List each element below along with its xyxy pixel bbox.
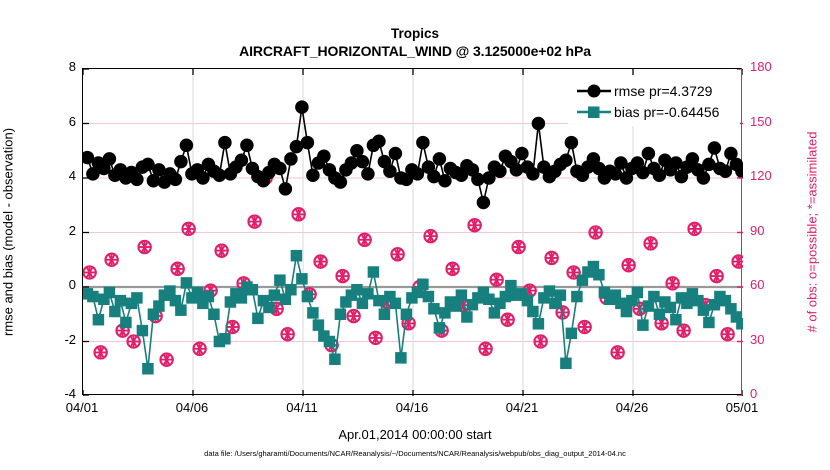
marker-square-bias — [247, 284, 258, 295]
marker-square-bias — [489, 308, 500, 319]
marker-square-bias — [104, 287, 115, 298]
marker-square-bias — [594, 269, 605, 280]
marker-square-bias — [379, 309, 390, 320]
marker-circle-rmse — [494, 165, 507, 178]
marker-square-bias — [566, 328, 577, 339]
marker-circle-rmse — [279, 183, 292, 196]
marker-square-bias — [275, 275, 286, 286]
marker-square-bias — [363, 289, 374, 300]
marker-square-bias — [665, 302, 676, 313]
marker-circle-rmse — [219, 136, 232, 149]
marker-square-bias — [440, 308, 451, 319]
marker-square-bias — [698, 305, 709, 316]
y-tick-label-left: -2 — [64, 332, 76, 347]
marker-square-bias — [451, 301, 462, 312]
marker-square-bias — [110, 306, 121, 317]
marker-square-bias — [671, 314, 682, 325]
y-tick-label-right: 120 — [750, 168, 772, 183]
marker-square-bias — [434, 323, 445, 334]
marker-circle-rmse — [301, 136, 314, 149]
marker-circle-rmse — [532, 117, 545, 130]
marker-circle-rmse — [417, 136, 430, 149]
legend-swatch-circle-icon — [575, 82, 613, 100]
y-tick-label-left: 2 — [69, 223, 76, 238]
marker-square-bias — [533, 319, 544, 330]
marker-square-bias — [121, 317, 131, 328]
marker-circle-rmse — [169, 173, 182, 186]
chart-title-block: Tropics AIRCRAFT_HORIZONTAL_WIND @ 3.125… — [0, 26, 830, 60]
marker-circle-rmse — [439, 174, 452, 187]
marker-square-bias — [390, 298, 401, 309]
marker-circle-rmse — [131, 173, 144, 186]
marker-square-bias — [737, 319, 743, 330]
y-tick-label-right: 30 — [750, 332, 764, 347]
marker-square-bias — [269, 290, 280, 301]
marker-square-bias — [638, 320, 649, 331]
marker-square-bias — [154, 301, 165, 312]
marker-circle-rmse — [389, 147, 402, 160]
marker-square-bias — [181, 278, 192, 289]
marker-square-bias — [368, 267, 379, 278]
marker-circle-rmse — [510, 164, 523, 177]
marker-square-bias — [423, 291, 434, 302]
marker-circle-rmse — [516, 147, 529, 160]
marker-square-bias — [555, 290, 566, 301]
x-tick-label: 04/21 — [487, 400, 557, 415]
y-tick-label-left: -4 — [64, 386, 76, 401]
marker-square-bias — [429, 304, 440, 315]
legend-label: bias pr=-0.64456 — [614, 104, 719, 120]
marker-circle-rmse — [356, 155, 369, 168]
x-tick-label: 04/01 — [47, 400, 117, 415]
marker-circle-rmse — [180, 139, 193, 152]
marker-circle-rmse — [642, 147, 655, 160]
y-tick-label-left: 8 — [69, 59, 76, 74]
chart-legend: rmse pr=4.3729bias pr=-0.64456 — [568, 76, 740, 126]
marker-circle-rmse — [373, 135, 386, 148]
marker-circle-rmse — [708, 142, 721, 155]
legend-item: bias pr=-0.64456 — [575, 101, 735, 122]
y-tick-label-left: 4 — [69, 168, 76, 183]
x-tick-label: 04/11 — [267, 400, 337, 415]
marker-circle-rmse — [384, 165, 397, 178]
y-tick-label-right: 90 — [750, 223, 764, 238]
marker-square-bias — [203, 291, 214, 302]
marker-square-bias — [286, 284, 297, 295]
legend-label: rmse pr=4.3729 — [614, 83, 712, 99]
marker-square-bias — [335, 309, 346, 320]
x-tick-label: 04/16 — [377, 400, 447, 415]
marker-square-bias — [572, 291, 583, 302]
marker-circle-rmse — [103, 153, 116, 166]
y-tick-label-right: 150 — [750, 114, 772, 129]
x-tick-label: 05/01 — [707, 400, 777, 415]
marker-circle-rmse — [362, 168, 375, 181]
y-tick-label-right: 60 — [750, 277, 764, 292]
marker-circle-rmse — [345, 157, 358, 170]
y-tick-label-left: 6 — [69, 114, 76, 129]
data-file-note: data file: /Users/gharamti/Documents/NCA… — [0, 449, 830, 458]
marker-square-bias — [357, 298, 368, 309]
x-tick-label: 04/26 — [597, 400, 667, 415]
y-tick-label-right: 0 — [750, 386, 757, 401]
marker-square-bias — [115, 295, 126, 306]
marker-square-bias — [528, 306, 539, 317]
x-axis-label: Apr.01,2014 00:00:00 start — [0, 427, 830, 442]
marker-circle-rmse — [197, 172, 210, 185]
chart-figure: Tropics AIRCRAFT_HORIZONTAL_WIND @ 3.125… — [0, 0, 830, 470]
marker-square-bias — [396, 353, 407, 364]
marker-circle-rmse — [411, 168, 424, 181]
y-axis-label-right: # of obs: o=possible; *=assimilated — [805, 132, 820, 333]
marker-circle-rmse — [241, 139, 254, 152]
marker-square-bias — [165, 286, 176, 297]
marker-square-bias — [192, 287, 203, 298]
marker-square-bias — [632, 287, 643, 298]
marker-circle-rmse — [213, 169, 226, 182]
marker-square-bias — [302, 291, 313, 302]
marker-square-bias — [654, 309, 665, 320]
marker-square-bias — [643, 301, 654, 312]
chart-subtitle: AIRCRAFT_HORIZONTAL_WIND @ 3.125000e+02 … — [0, 43, 830, 61]
marker-square-bias — [93, 314, 104, 325]
marker-square-bias — [236, 293, 247, 304]
marker-square-bias — [682, 298, 693, 309]
y-axis-label-left: rmse and bias (model - observation) — [1, 128, 16, 336]
marker-square-bias — [143, 364, 154, 375]
marker-square-bias — [291, 250, 302, 261]
legend-swatch-square-icon — [575, 103, 613, 121]
marker-square-bias — [484, 294, 495, 305]
marker-square-bias — [544, 286, 555, 297]
marker-circle-rmse — [318, 150, 331, 163]
marker-circle-rmse — [433, 153, 446, 166]
marker-square-bias — [297, 274, 308, 285]
marker-square-bias — [693, 295, 704, 306]
marker-circle-rmse — [307, 169, 320, 182]
marker-square-bias — [352, 284, 363, 295]
marker-circle-rmse — [697, 172, 710, 185]
marker-square-bias — [704, 317, 715, 328]
marker-square-bias — [264, 302, 275, 313]
marker-circle-rmse — [560, 154, 573, 167]
marker-square-bias — [137, 325, 148, 336]
marker-circle-rmse — [477, 196, 490, 209]
marker-square-bias — [220, 334, 231, 345]
marker-square-bias — [170, 295, 181, 306]
marker-circle-rmse — [175, 155, 188, 168]
y-tick-label-left: 0 — [69, 277, 76, 292]
marker-square-bias — [374, 295, 385, 306]
marker-circle-rmse — [527, 168, 540, 181]
page-title: Tropics — [0, 26, 830, 43]
marker-square-bias — [456, 290, 467, 301]
marker-square-bias — [313, 320, 324, 331]
legend-item: rmse pr=4.3729 — [575, 80, 735, 101]
marker-square-bias — [621, 306, 632, 317]
marker-square-bias — [132, 293, 143, 304]
y-tick-label-right: 180 — [750, 59, 772, 74]
marker-square-bias — [401, 309, 412, 320]
x-tick-label: 04/06 — [157, 400, 227, 415]
marker-square-bias — [209, 309, 220, 320]
marker-circle-rmse — [274, 162, 287, 175]
marker-square-bias — [506, 280, 517, 291]
marker-square-bias — [176, 305, 187, 316]
marker-square-bias — [324, 336, 335, 347]
marker-circle-rmse — [472, 173, 485, 186]
marker-circle-rmse — [235, 154, 248, 167]
marker-square-bias — [500, 291, 511, 302]
marker-square-bias — [418, 279, 429, 290]
marker-circle-rmse — [296, 101, 309, 114]
marker-circle-rmse — [334, 176, 347, 189]
marker-square-bias — [88, 291, 99, 302]
marker-square-bias — [649, 291, 660, 302]
marker-circle-rmse — [565, 136, 578, 149]
marker-square-bias — [522, 295, 533, 306]
marker-square-bias — [330, 354, 341, 365]
marker-circle-rmse — [285, 153, 298, 166]
marker-square-bias — [462, 312, 473, 323]
marker-square-bias — [561, 358, 572, 369]
marker-circle-rmse — [719, 165, 732, 178]
marker-square-bias — [308, 308, 319, 319]
marker-square-bias — [280, 294, 291, 305]
marker-square-bias — [253, 313, 264, 324]
